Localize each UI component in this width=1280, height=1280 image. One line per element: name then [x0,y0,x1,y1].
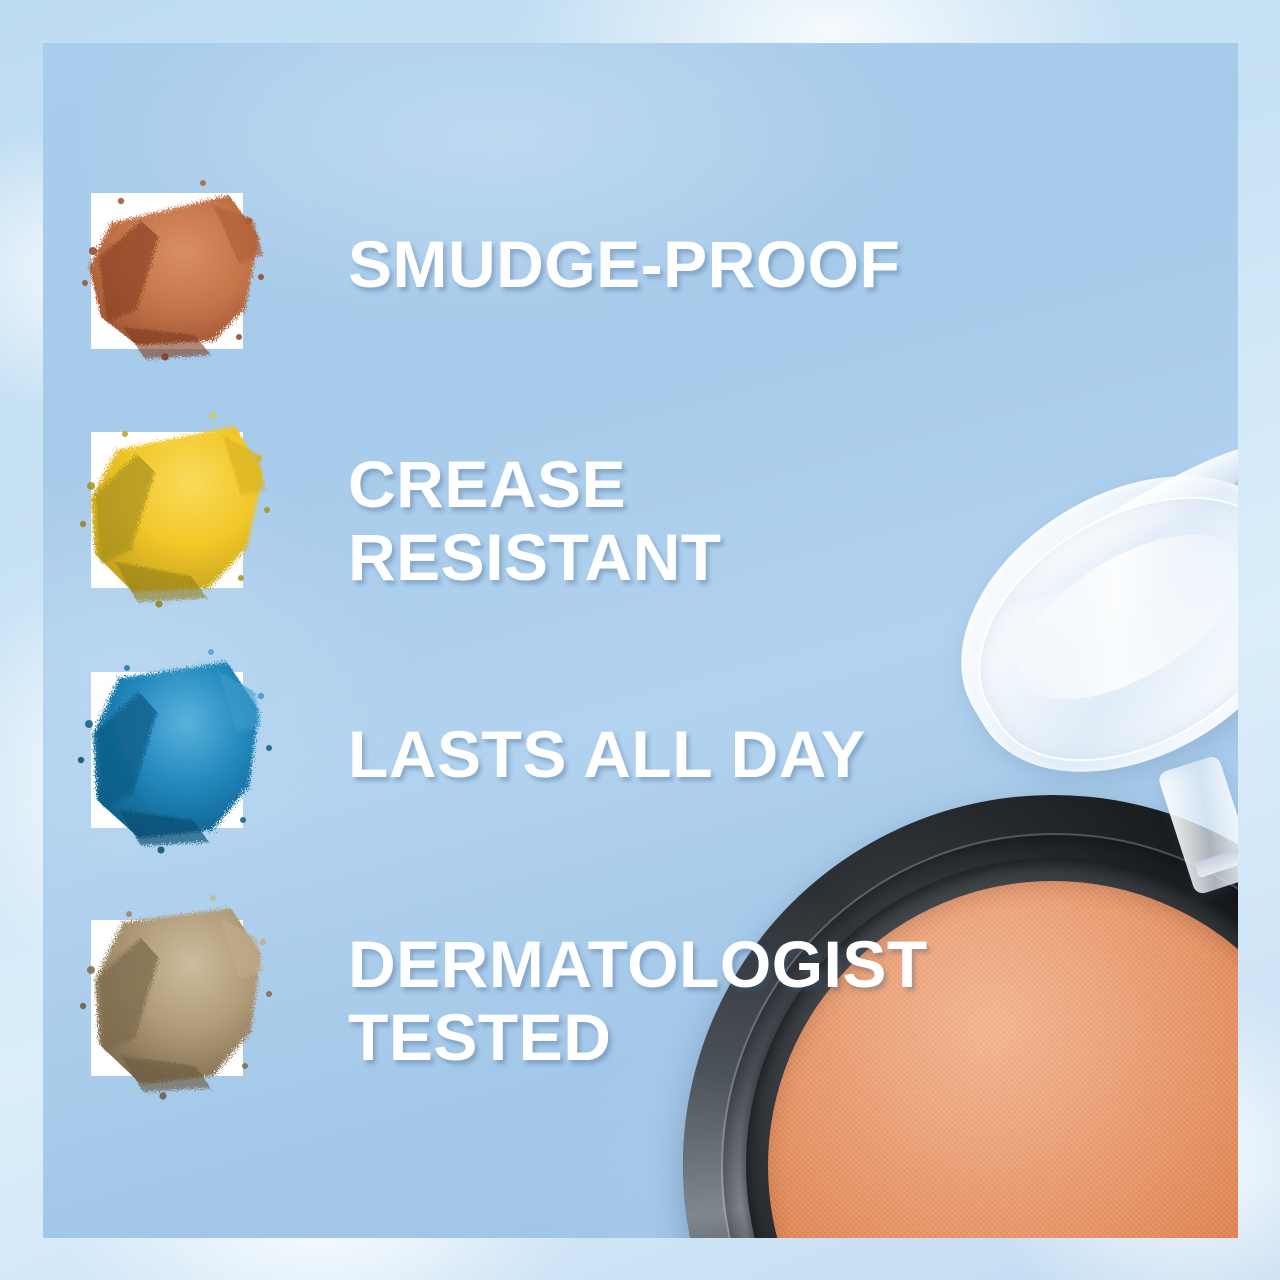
taupe-powder-swatch [63,886,281,1110]
swatch-tile-dermatologist-tested [91,920,243,1076]
lid-hinge [1157,754,1238,896]
compact-clear-lid [943,475,1238,885]
feature-label-dermatologist-tested: DERMATOLOGIST TESTED [348,928,928,1074]
swatch-tile-smudge-proof [91,193,243,349]
swatch-tile-lasts-all-day [91,672,243,828]
yellow-powder-swatch [63,398,281,622]
terracotta-powder-swatch [63,159,281,383]
blue-powder-swatch [63,638,281,862]
feature-label-smudge-proof: SMUDGE-PROOF [348,228,900,301]
product-feature-banner: SMUDGE-PROOF CREASE RESISTANT LASTS ALL … [0,0,1280,1280]
swatch-tile-crease-resistant [91,432,243,588]
feature-label-lasts-all-day: LASTS ALL DAY [348,718,865,791]
feature-label-crease-resistant: CREASE RESISTANT [348,448,722,594]
